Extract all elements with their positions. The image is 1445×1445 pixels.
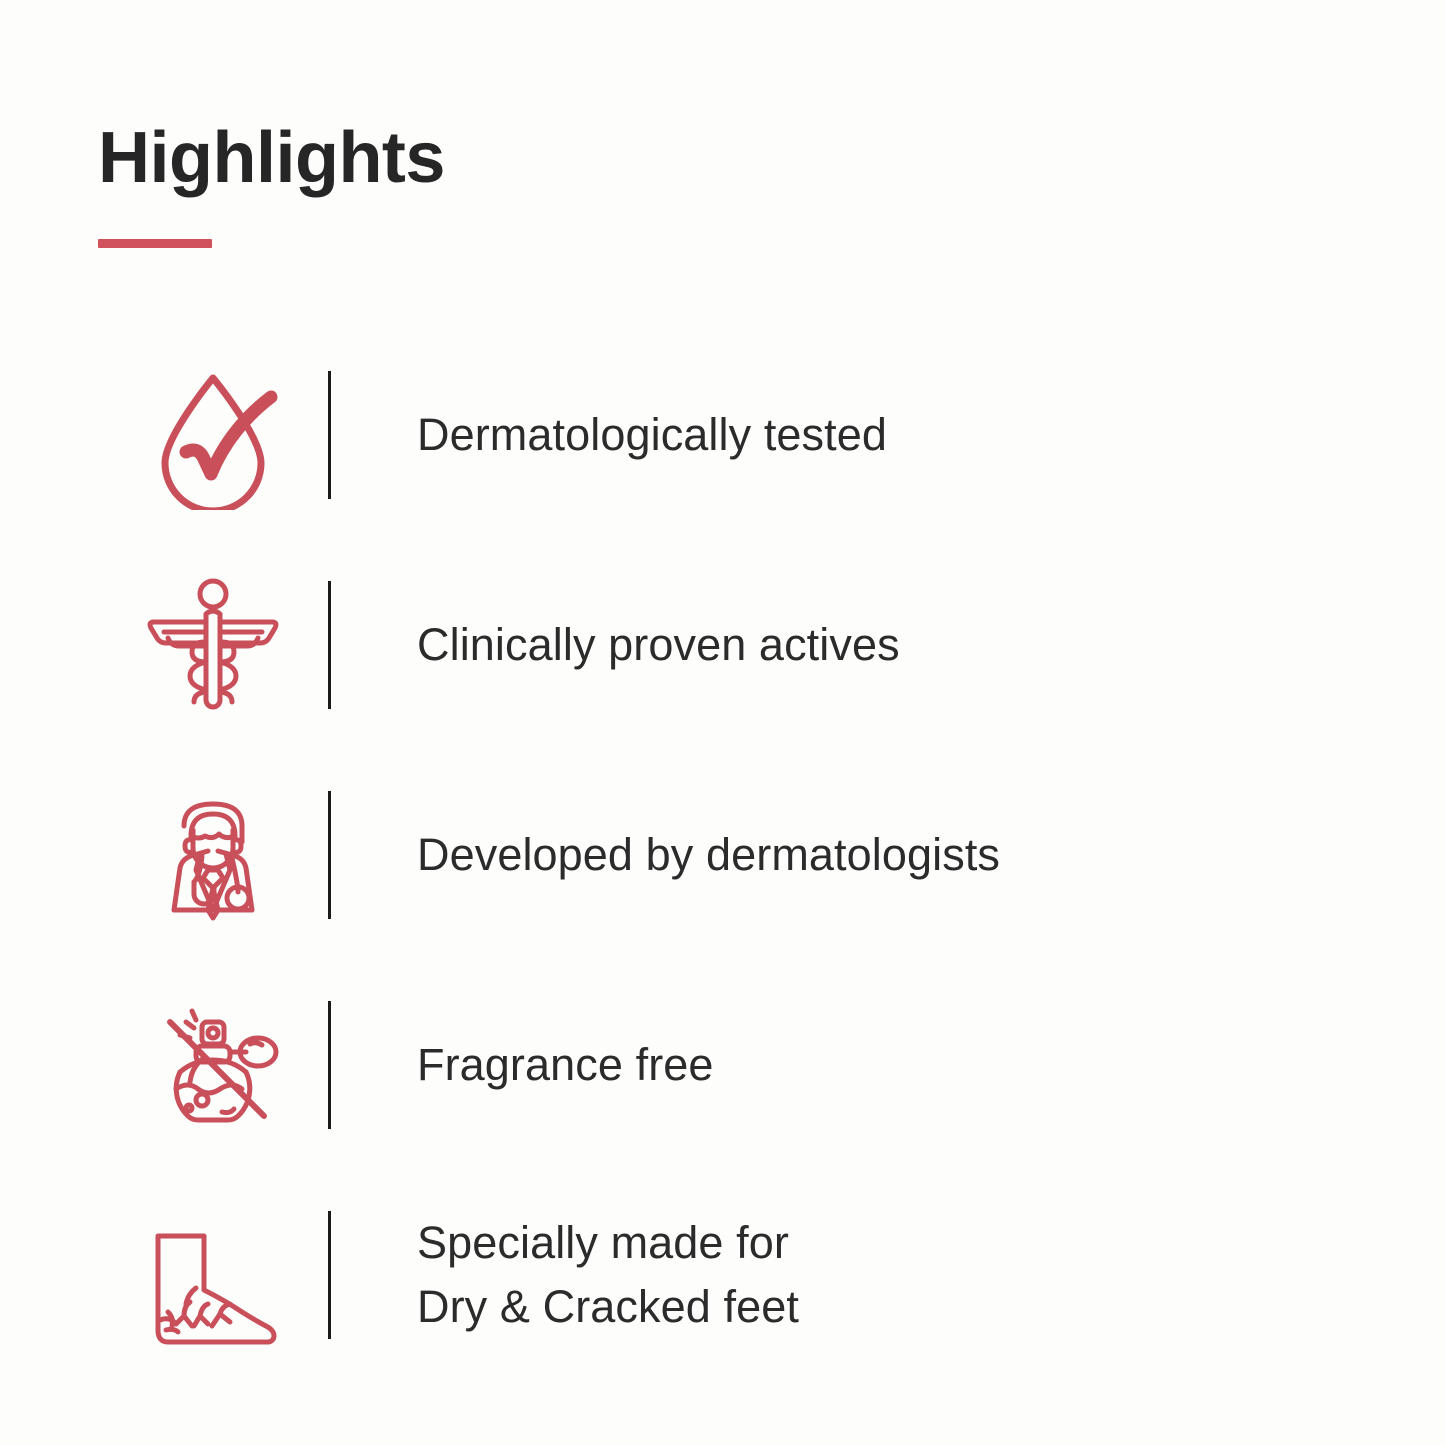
highlights-page: Highlights Dermatologically tested — [0, 0, 1445, 1445]
row-divider — [328, 1211, 331, 1339]
page-title: Highlights — [98, 118, 998, 199]
list-item: Clinically proven actives — [98, 540, 1378, 750]
list-item-label: Fragrance free — [417, 1033, 714, 1097]
page-header: Highlights — [98, 118, 998, 248]
row-divider — [328, 1001, 331, 1129]
list-item: Dermatologically tested — [98, 330, 1378, 540]
caduceus-icon — [98, 570, 328, 720]
doctor-icon — [98, 780, 328, 930]
droplet-check-icon — [98, 360, 328, 510]
list-item-label: Developed by dermatologists — [417, 823, 1000, 887]
list-item: Fragrance free — [98, 960, 1378, 1170]
row-divider — [328, 791, 331, 919]
list-item-label: Clinically proven actives — [417, 613, 900, 677]
list-item: Developed by dermatologists — [98, 750, 1378, 960]
list-item-label: Specially made for Dry & Cracked feet — [417, 1211, 799, 1339]
row-divider — [328, 581, 331, 709]
cracked-foot-icon — [98, 1200, 328, 1350]
list-item-label: Dermatologically tested — [417, 403, 887, 467]
highlights-list: Dermatologically tested — [98, 330, 1378, 1380]
no-fragrance-icon — [98, 990, 328, 1140]
row-divider — [328, 371, 331, 499]
list-item: Specially made for Dry & Cracked feet — [98, 1170, 1378, 1380]
title-accent-rule — [98, 239, 212, 248]
